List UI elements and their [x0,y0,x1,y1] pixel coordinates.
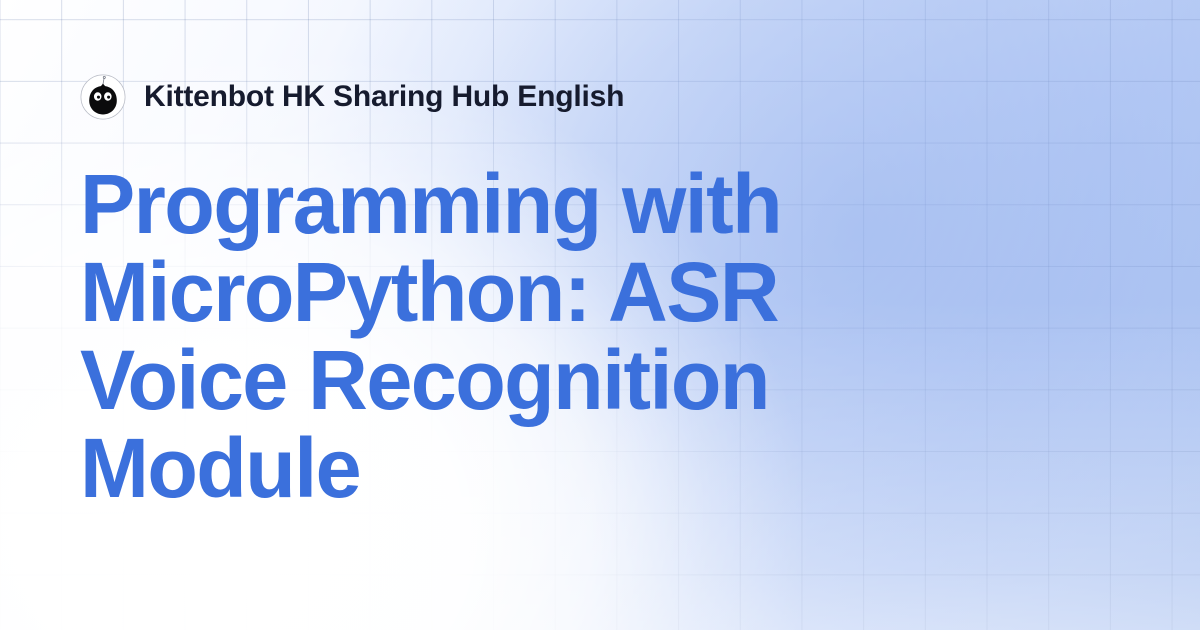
kittenbot-cat-logo-icon [80,74,126,120]
brand-name-label: Kittenbot HK Sharing Hub English [144,82,624,112]
page-title: Programming with MicroPython: ASR Voice … [80,160,907,512]
og-preview-card: Kittenbot HK Sharing Hub English Program… [0,0,1200,630]
brand-row: Kittenbot HK Sharing Hub English [80,74,624,120]
card-content: Kittenbot HK Sharing Hub English Program… [0,0,1200,630]
